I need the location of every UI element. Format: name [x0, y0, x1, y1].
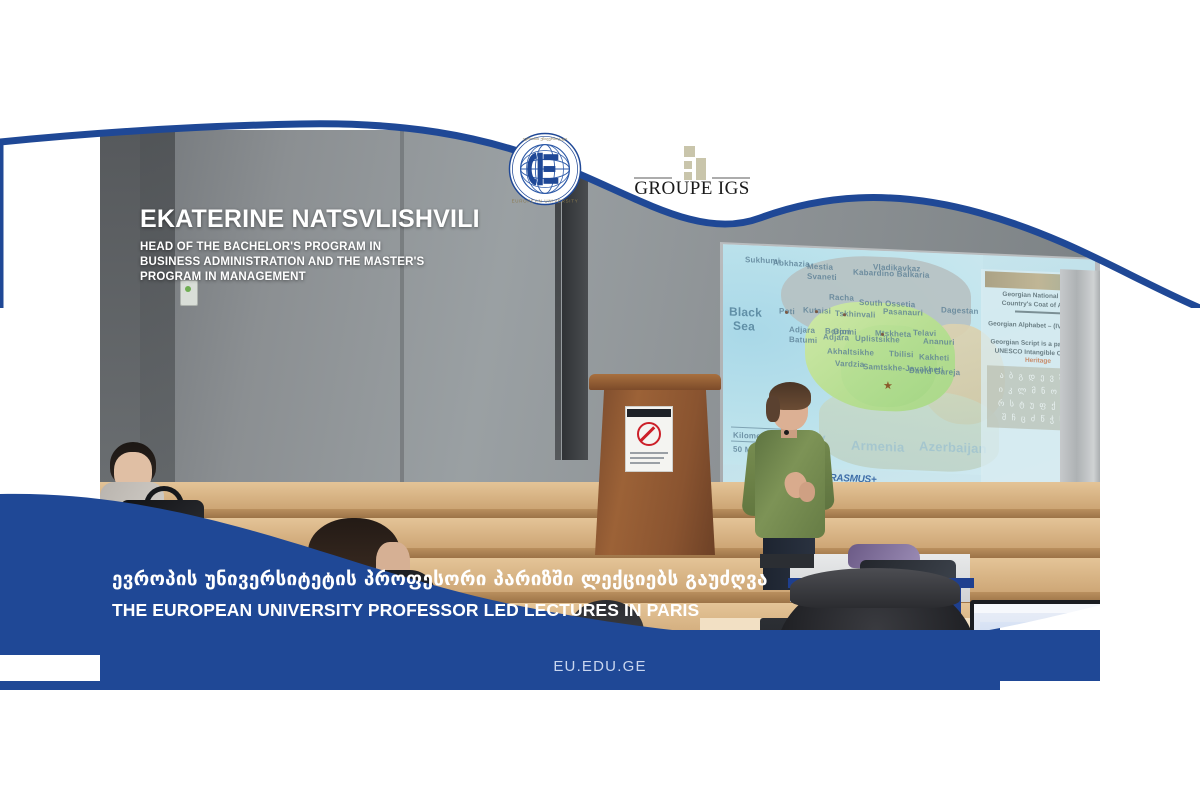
svg-text:EUROPEAN UNIVERSITY: EUROPEAN UNIVERSITY	[512, 198, 579, 203]
map-label-dagestan: Dagestan	[941, 305, 979, 316]
headline-english: THE EUROPEAN UNIVERSITY PROFESSOR LED LE…	[112, 600, 699, 621]
map-label-batumi: Batumi	[789, 335, 817, 345]
laptop-screen-toolbar	[974, 604, 1100, 613]
map-label-sea-1: Black	[729, 304, 762, 319]
student-hair-highlight	[790, 568, 960, 608]
map-label-ananuri: Ananuri	[923, 337, 955, 347]
map-label-akhaltsikhe: Akhaltsikhe	[827, 347, 874, 358]
light-switch-indicator	[185, 286, 191, 292]
speaker-role: HEAD OF THE BACHELOR'S PROGRAM IN BUSINE…	[140, 240, 424, 285]
map-label-tbilisi: Tbilisi	[889, 349, 914, 359]
svg-text:ევროპის უნივერსიტეტი: ევროპის უნივერსიტეტი	[523, 136, 568, 141]
map-label-adjara: Adjara	[789, 325, 815, 335]
podium-poster-header	[627, 409, 671, 417]
wall-column	[140, 130, 175, 490]
speaker-name: EKATERINE NATSVLISHVILI	[140, 205, 480, 234]
headline-georgian: ევროპის უნივერსიტეტის პროფესორი პარიზში …	[112, 568, 768, 590]
poster-canvas: Black Sea Turkey Armenia Azerbaijan Dage…	[0, 0, 1200, 800]
capital-star-icon: ★	[883, 379, 893, 392]
speaker-role-line-3: PROGRAM IN MANAGEMENT	[140, 270, 424, 285]
map-label-tskhinvali: Tskhinvali	[835, 309, 876, 320]
presenter-hair-side	[766, 396, 780, 422]
map-label-uplistsikhe: Uplistsikhe	[855, 334, 900, 345]
presenter-laptop	[760, 554, 814, 568]
map-label-sea-2: Sea	[733, 319, 755, 334]
map-label-mestia: Mestia	[807, 262, 833, 272]
presenter-hand-second	[799, 482, 815, 502]
map-label-pasanauri: Pasanauri	[883, 307, 923, 318]
website-url: EU.EDU.GE	[0, 658, 1200, 675]
wall-seam	[400, 130, 404, 490]
groupe-igs-wordmark: GROUPE IGS	[628, 178, 756, 200]
no-smoking-icon	[637, 422, 661, 446]
map-label-sukhumi: Sukhumi	[745, 255, 780, 265]
podium-top	[589, 374, 721, 390]
wall-panel-left	[100, 130, 140, 490]
map-label-svaneti: Svaneti	[807, 272, 837, 282]
map-label-armenia: Armenia	[851, 438, 904, 455]
european-university-logo: ევროპის უნივერსიტეტი EUROPEAN UNIVERSITY	[508, 132, 582, 206]
map-label-azerbaijan: Azerbaijan	[919, 438, 987, 456]
map-label-samtskhe: Adjara	[823, 332, 849, 342]
map-label-racha: Racha	[829, 293, 854, 303]
map-label-vardzia: Vardzia	[835, 359, 864, 369]
map-label-kakheti: Kakheti	[919, 352, 949, 362]
speaker-role-line-1: HEAD OF THE BACHELOR'S PROGRAM IN	[140, 240, 424, 255]
lapel-microphone-icon	[784, 430, 789, 435]
speaker-role-line-2: BUSINESS ADMINISTRATION AND THE MASTER'S	[140, 255, 424, 270]
